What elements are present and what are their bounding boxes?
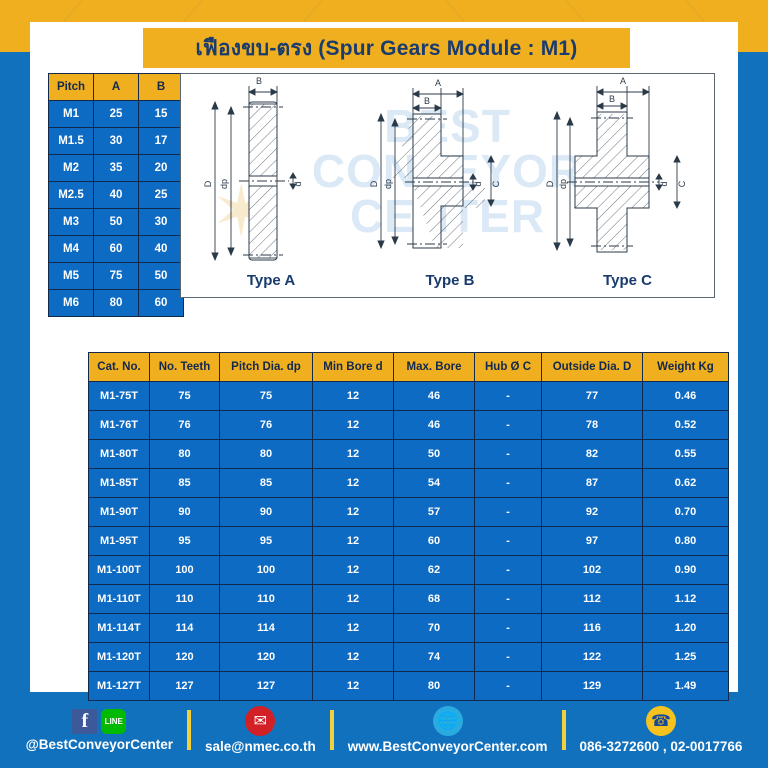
spec-header-cell: Hub Ø C [475, 353, 542, 382]
dim-label-dp: dp [558, 179, 568, 189]
spec-cell: 12 [313, 643, 394, 672]
spec-cell: 46 [394, 411, 475, 440]
dim-label-c: C [677, 180, 687, 187]
spec-cell: 82 [542, 440, 643, 469]
pitch-cell: M5 [49, 263, 94, 290]
dim-label-dp: dp [383, 179, 393, 189]
phone-icon[interactable]: ☎ [646, 706, 676, 736]
pitch-cell: M1.5 [49, 128, 94, 155]
spec-cell: M1-80T [89, 440, 150, 469]
spec-cell: 90 [220, 498, 313, 527]
dim-label-dp: dp [219, 179, 229, 189]
pitch-cell: M4 [49, 236, 94, 263]
spec-cell: 12 [313, 527, 394, 556]
pitch-header-a: A [94, 74, 139, 101]
spec-cell: 80 [220, 440, 313, 469]
email-icon[interactable]: ✉ [245, 706, 275, 736]
table-row: M1-95T95951260-970.80 [89, 527, 729, 556]
pitch-cell: 80 [94, 290, 139, 317]
spec-cell: 1.20 [643, 614, 729, 643]
pitch-header-pitch: Pitch [49, 74, 94, 101]
spec-cell: 95 [220, 527, 313, 556]
spec-cell: M1-75T [89, 382, 150, 411]
spec-cell: 114 [220, 614, 313, 643]
diagram-type-a: B D dp d Type A [181, 74, 361, 297]
pitch-cell: 30 [139, 209, 184, 236]
spec-cell: 70 [394, 614, 475, 643]
spec-header-cell: Min Bore d [313, 353, 394, 382]
pitch-cell: 50 [139, 263, 184, 290]
table-row: M1-80T80801250-820.55 [89, 440, 729, 469]
pitch-cell: M2.5 [49, 182, 94, 209]
pitch-cell: 17 [139, 128, 184, 155]
pitch-table-row: M68060 [49, 290, 184, 317]
footer-website-group[interactable]: 🌐 www.BestConveyorCenter.com [334, 706, 562, 754]
table-row: M1-114T1141141270-1161.20 [89, 614, 729, 643]
spec-header-cell: No. Teeth [150, 353, 220, 382]
spec-cell: - [475, 527, 542, 556]
spec-cell: 54 [394, 469, 475, 498]
dim-label-d-bore: d [473, 181, 483, 186]
spec-cell: 120 [220, 643, 313, 672]
spec-cell: 57 [394, 498, 475, 527]
pitch-cell: 50 [94, 209, 139, 236]
dim-label-d-outer: D [545, 180, 555, 187]
facebook-icon[interactable]: f [72, 709, 97, 734]
spec-cell: 0.80 [643, 527, 729, 556]
phone-number[interactable]: 086-3272600 , 02-0017766 [580, 739, 743, 754]
pitch-table-row: M57550 [49, 263, 184, 290]
spec-cell: 92 [542, 498, 643, 527]
spec-cell: 12 [313, 556, 394, 585]
spec-cell: 1.25 [643, 643, 729, 672]
email-address[interactable]: sale@nmec.co.th [205, 739, 316, 754]
spec-cell: 110 [150, 585, 220, 614]
pitch-cell: 60 [139, 290, 184, 317]
spec-cell: - [475, 411, 542, 440]
footer-contact-bar: f LINE @BestConveyorCenter ✉ sale@nmec.c… [0, 692, 768, 768]
dim-label-d-bore: d [293, 181, 303, 186]
line-icon-label: LINE [105, 717, 123, 726]
page-title: เฟืองขบ-ตรง (Spur Gears Module : M1) [143, 28, 630, 68]
spec-cell: 122 [542, 643, 643, 672]
spec-header-cell: Cat. No. [89, 353, 150, 382]
spec-cell: - [475, 614, 542, 643]
spec-cell: M1-90T [89, 498, 150, 527]
pitch-cell: M3 [49, 209, 94, 236]
spec-header-cell: Max. Bore [394, 353, 475, 382]
spec-cell: 112 [542, 585, 643, 614]
table-row: M1-85T85851254-870.62 [89, 469, 729, 498]
gear-type-diagrams: BEST CONVEYOR CENTER ✶ [180, 73, 715, 298]
spec-cell: 68 [394, 585, 475, 614]
pitch-cell: M1 [49, 101, 94, 128]
pitch-cell: 20 [139, 155, 184, 182]
spec-cell: M1-85T [89, 469, 150, 498]
spec-cell: 12 [313, 382, 394, 411]
spec-cell: M1-95T [89, 527, 150, 556]
spec-cell: 62 [394, 556, 475, 585]
dim-label-b: B [424, 96, 430, 106]
pitch-cell: 35 [94, 155, 139, 182]
spec-cell: 100 [150, 556, 220, 585]
dim-label-d-bore: d [659, 181, 669, 186]
spec-cell: 1.12 [643, 585, 729, 614]
spec-cell: 80 [150, 440, 220, 469]
pitch-table-row: M2.54025 [49, 182, 184, 209]
spec-cell: - [475, 585, 542, 614]
spec-header-cell: Outside Dia. D [542, 353, 643, 382]
diagram-label-type-b: Type B [361, 272, 539, 289]
globe-icon[interactable]: 🌐 [433, 706, 463, 736]
spec-cell: 76 [150, 411, 220, 440]
spec-cell: 76 [220, 411, 313, 440]
spec-cell: M1-120T [89, 643, 150, 672]
spec-header-cell: Pitch Dia. dp [220, 353, 313, 382]
spec-cell: 102 [542, 556, 643, 585]
dim-label-c: C [491, 180, 501, 187]
spec-cell: 0.62 [643, 469, 729, 498]
spec-cell: - [475, 643, 542, 672]
pitch-header-b: B [139, 74, 184, 101]
spec-cell: - [475, 556, 542, 585]
table-row: M1-120T1201201274-1221.25 [89, 643, 729, 672]
spec-cell: 114 [150, 614, 220, 643]
spec-cell: 12 [313, 585, 394, 614]
pitch-table: Pitch A B M12515M1.53017M23520M2.54025M3… [48, 73, 184, 317]
spec-cell: - [475, 382, 542, 411]
website-url[interactable]: www.BestConveyorCenter.com [348, 739, 548, 754]
table-row: M1-90T90901257-920.70 [89, 498, 729, 527]
spec-cell: 0.52 [643, 411, 729, 440]
pitch-table-row: M35030 [49, 209, 184, 236]
diagram-type-c: A B D dp d C Type C [539, 74, 715, 297]
spec-cell: 75 [150, 382, 220, 411]
diagram-label-type-c: Type C [539, 272, 715, 289]
dim-label-a: A [620, 76, 626, 86]
pitch-cell: 30 [94, 128, 139, 155]
spec-cell: 85 [220, 469, 313, 498]
pitch-cell: 25 [94, 101, 139, 128]
dim-label-b: B [256, 76, 262, 86]
dim-label-d-outer: D [203, 180, 213, 187]
footer-email-group[interactable]: ✉ sale@nmec.co.th [191, 706, 330, 754]
pitch-cell: 25 [139, 182, 184, 209]
footer-social-group[interactable]: f LINE @BestConveyorCenter [12, 709, 187, 752]
social-icons: f LINE [72, 709, 126, 734]
diagram-label-type-a: Type A [181, 272, 361, 289]
spec-cell: 100 [220, 556, 313, 585]
dim-label-d-outer: D [369, 180, 379, 187]
pitch-cell: 40 [139, 236, 184, 263]
pitch-table-row: M1.53017 [49, 128, 184, 155]
dim-label-b: B [609, 94, 615, 104]
spec-header-cell: Weight Kg [643, 353, 729, 382]
spec-cell: 110 [220, 585, 313, 614]
spec-table-header-row: Cat. No.No. TeethPitch Dia. dpMin Bore d… [89, 353, 729, 382]
spec-cell: 90 [150, 498, 220, 527]
table-row: M1-100T1001001262-1020.90 [89, 556, 729, 585]
pitch-cell: M2 [49, 155, 94, 182]
specification-table: Cat. No.No. TeethPitch Dia. dpMin Bore d… [88, 352, 729, 701]
table-row: M1-110T1101101268-1121.12 [89, 585, 729, 614]
spec-cell: 97 [542, 527, 643, 556]
spec-cell: 120 [150, 643, 220, 672]
spec-cell: 0.90 [643, 556, 729, 585]
pitch-table-row: M23520 [49, 155, 184, 182]
line-icon[interactable]: LINE [101, 709, 126, 734]
spec-cell: 78 [542, 411, 643, 440]
pitch-cell: 75 [94, 263, 139, 290]
spec-cell: - [475, 469, 542, 498]
dim-label-a: A [435, 78, 441, 88]
page-title-text: เฟืองขบ-ตรง (Spur Gears Module : M1) [196, 32, 578, 65]
pitch-table-header-row: Pitch A B [49, 74, 184, 101]
spec-cell: M1-76T [89, 411, 150, 440]
spec-cell: 0.46 [643, 382, 729, 411]
spec-cell: 12 [313, 411, 394, 440]
pitch-table-row: M46040 [49, 236, 184, 263]
spec-cell: 75 [220, 382, 313, 411]
pitch-cell: M6 [49, 290, 94, 317]
spec-cell: 0.70 [643, 498, 729, 527]
spec-cell: 60 [394, 527, 475, 556]
table-row: M1-75T75751246-770.46 [89, 382, 729, 411]
table-row: M1-76T76761246-780.52 [89, 411, 729, 440]
spec-cell: - [475, 440, 542, 469]
facebook-handle[interactable]: @BestConveyorCenter [26, 737, 173, 752]
spec-cell: - [475, 498, 542, 527]
spec-cell: 0.55 [643, 440, 729, 469]
spec-cell: 74 [394, 643, 475, 672]
pitch-table-row: M12515 [49, 101, 184, 128]
spec-cell: 12 [313, 469, 394, 498]
spec-cell: 77 [542, 382, 643, 411]
pitch-cell: 40 [94, 182, 139, 209]
spec-cell: 12 [313, 440, 394, 469]
specification-table-wrapper: Cat. No.No. TeethPitch Dia. dpMin Bore d… [88, 352, 729, 701]
spec-cell: 12 [313, 614, 394, 643]
spec-cell: M1-114T [89, 614, 150, 643]
spec-cell: 50 [394, 440, 475, 469]
spec-cell: 116 [542, 614, 643, 643]
spec-cell: 95 [150, 527, 220, 556]
spec-cell: 87 [542, 469, 643, 498]
diagram-type-b: A B D dp d C Type B [361, 74, 539, 297]
footer-phone-group[interactable]: ☎ 086-3272600 , 02-0017766 [566, 706, 757, 754]
pitch-cell: 15 [139, 101, 184, 128]
spec-cell: 46 [394, 382, 475, 411]
spec-cell: M1-110T [89, 585, 150, 614]
pitch-cell: 60 [94, 236, 139, 263]
spec-cell: 85 [150, 469, 220, 498]
spec-cell: M1-100T [89, 556, 150, 585]
spec-cell: 12 [313, 498, 394, 527]
